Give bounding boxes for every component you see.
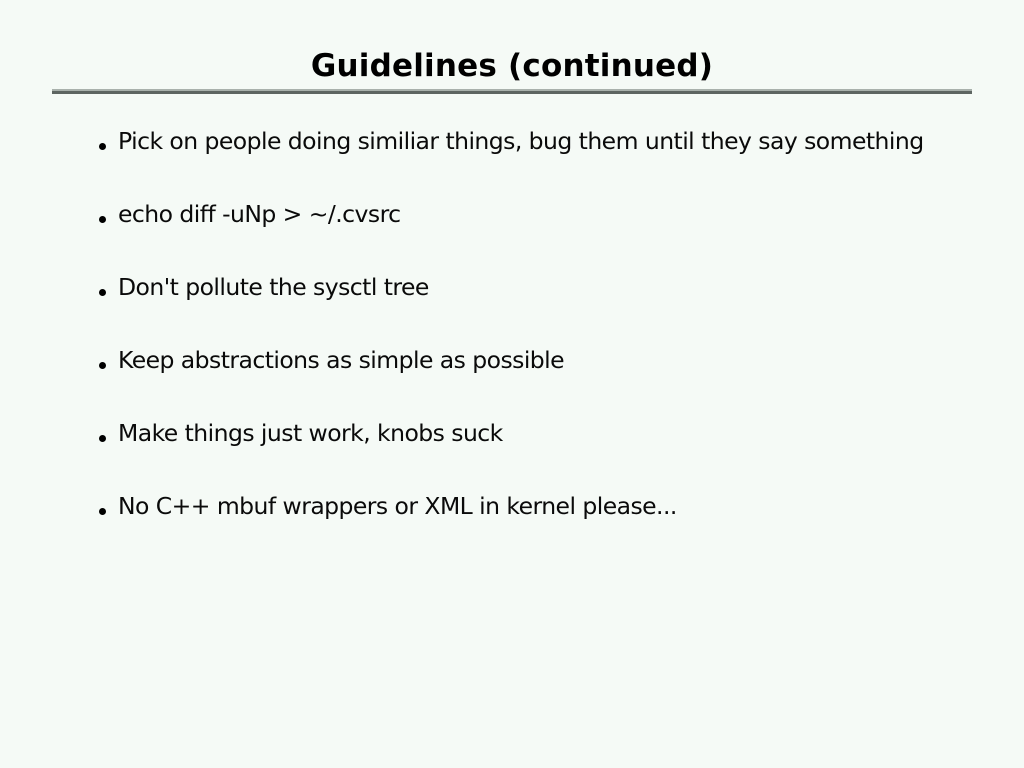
bullet-dot-icon: [99, 289, 106, 296]
list-item: No C++ mbuf wrappers or XML in kernel pl…: [96, 491, 996, 564]
presentation-slide: Guidelines (continued) Pick on people do…: [0, 0, 1024, 768]
bullet-dot-icon: [99, 216, 106, 223]
bullet-dot-icon: [99, 362, 106, 369]
bullet-dot-icon: [99, 508, 106, 515]
list-item-label: echo diff -uNp > ~/.cvsrc: [118, 199, 401, 229]
list-item-label: Keep abstractions as simple as possible: [118, 345, 564, 375]
bullet-dot-icon: [99, 435, 106, 442]
list-item-label: Make things just work, knobs suck: [118, 418, 503, 448]
bullet-list: Pick on people doing similiar things, bu…: [96, 126, 996, 564]
list-item: Don't pollute the sysctl tree: [96, 272, 996, 345]
list-item: echo diff -uNp > ~/.cvsrc: [96, 199, 996, 272]
list-item-label: Pick on people doing similiar things, bu…: [118, 126, 924, 156]
title-divider: [52, 89, 972, 94]
list-item: Make things just work, knobs suck: [96, 418, 996, 491]
list-item-label: Don't pollute the sysctl tree: [118, 272, 429, 302]
divider-shadow-line: [52, 91, 972, 94]
bullet-dot-icon: [99, 143, 106, 150]
list-item: Keep abstractions as simple as possible: [96, 345, 996, 418]
list-item: Pick on people doing similiar things, bu…: [96, 126, 996, 199]
page-title: Guidelines (continued): [0, 48, 1024, 84]
list-item-label: No C++ mbuf wrappers or XML in kernel pl…: [118, 491, 677, 521]
